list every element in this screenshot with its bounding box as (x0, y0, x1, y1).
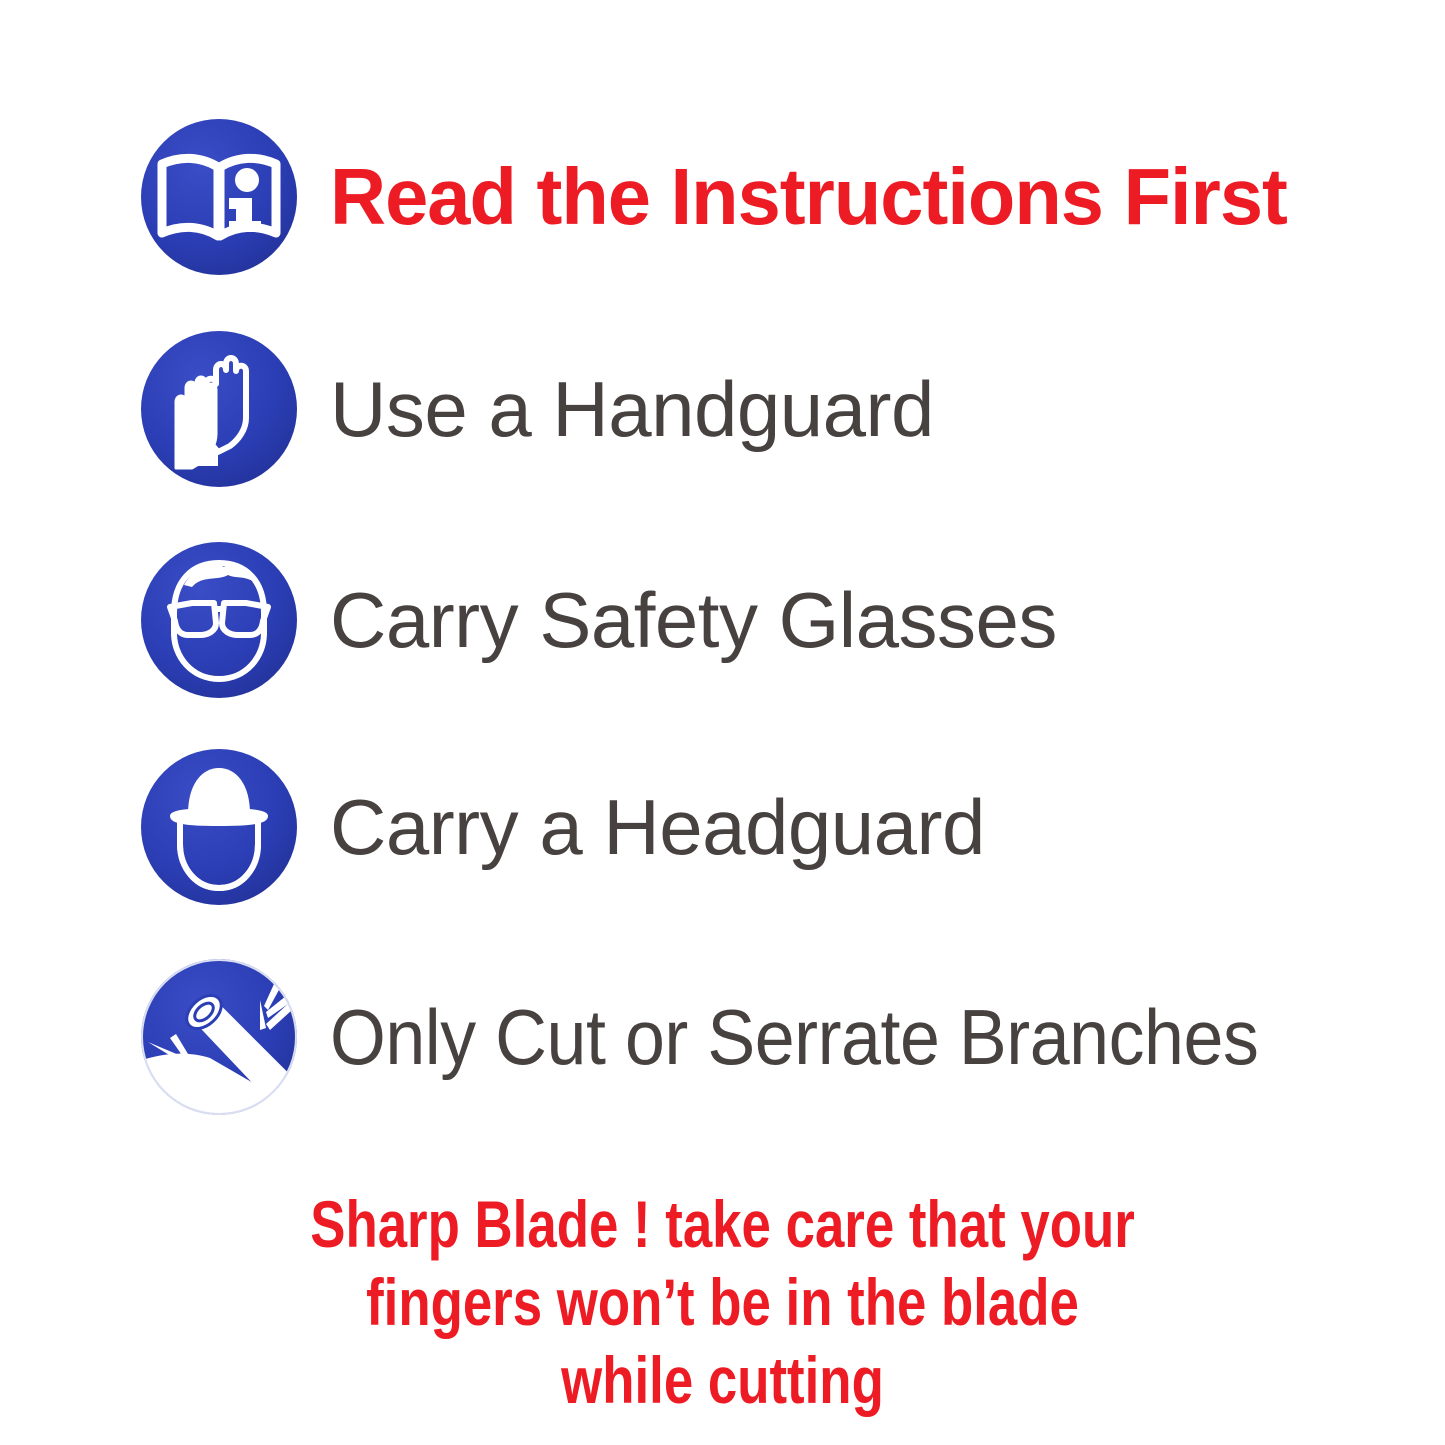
sharp-blade-warning: Sharp Blade ! take care that your finger… (0, 1186, 1445, 1420)
wear-safety-glasses-icon (140, 541, 298, 699)
safety-instruction-poster: Read the Instructions First (0, 0, 1445, 1445)
safety-row-carry-headguard: Carry a Headguard (140, 748, 985, 906)
safety-row-carry-safety-glasses: Carry Safety Glasses (140, 541, 1057, 699)
warning-line-3: while cutting (145, 1342, 1301, 1420)
safety-row-use-handguard: Use a Handguard (140, 330, 934, 488)
safety-row-read-instructions: Read the Instructions First (140, 118, 1316, 276)
safety-row-label: Read the Instructions First (330, 157, 1287, 237)
cut-branches-icon (140, 958, 298, 1116)
warning-line-1: Sharp Blade ! take care that your (145, 1186, 1301, 1264)
safety-row-label: Use a Handguard (330, 370, 934, 448)
wear-gloves-icon (140, 330, 298, 488)
safety-row-label: Only Cut or Serrate Branches (330, 998, 1258, 1076)
warning-line-2: fingers won’t be in the blade (145, 1264, 1301, 1342)
wear-hard-hat-icon (140, 748, 298, 906)
read-instructions-icon (140, 118, 298, 276)
safety-row-only-cut-branches: Only Cut or Serrate Branches (140, 958, 1339, 1116)
safety-row-label: Carry Safety Glasses (330, 581, 1057, 659)
safety-row-label: Carry a Headguard (330, 788, 985, 866)
